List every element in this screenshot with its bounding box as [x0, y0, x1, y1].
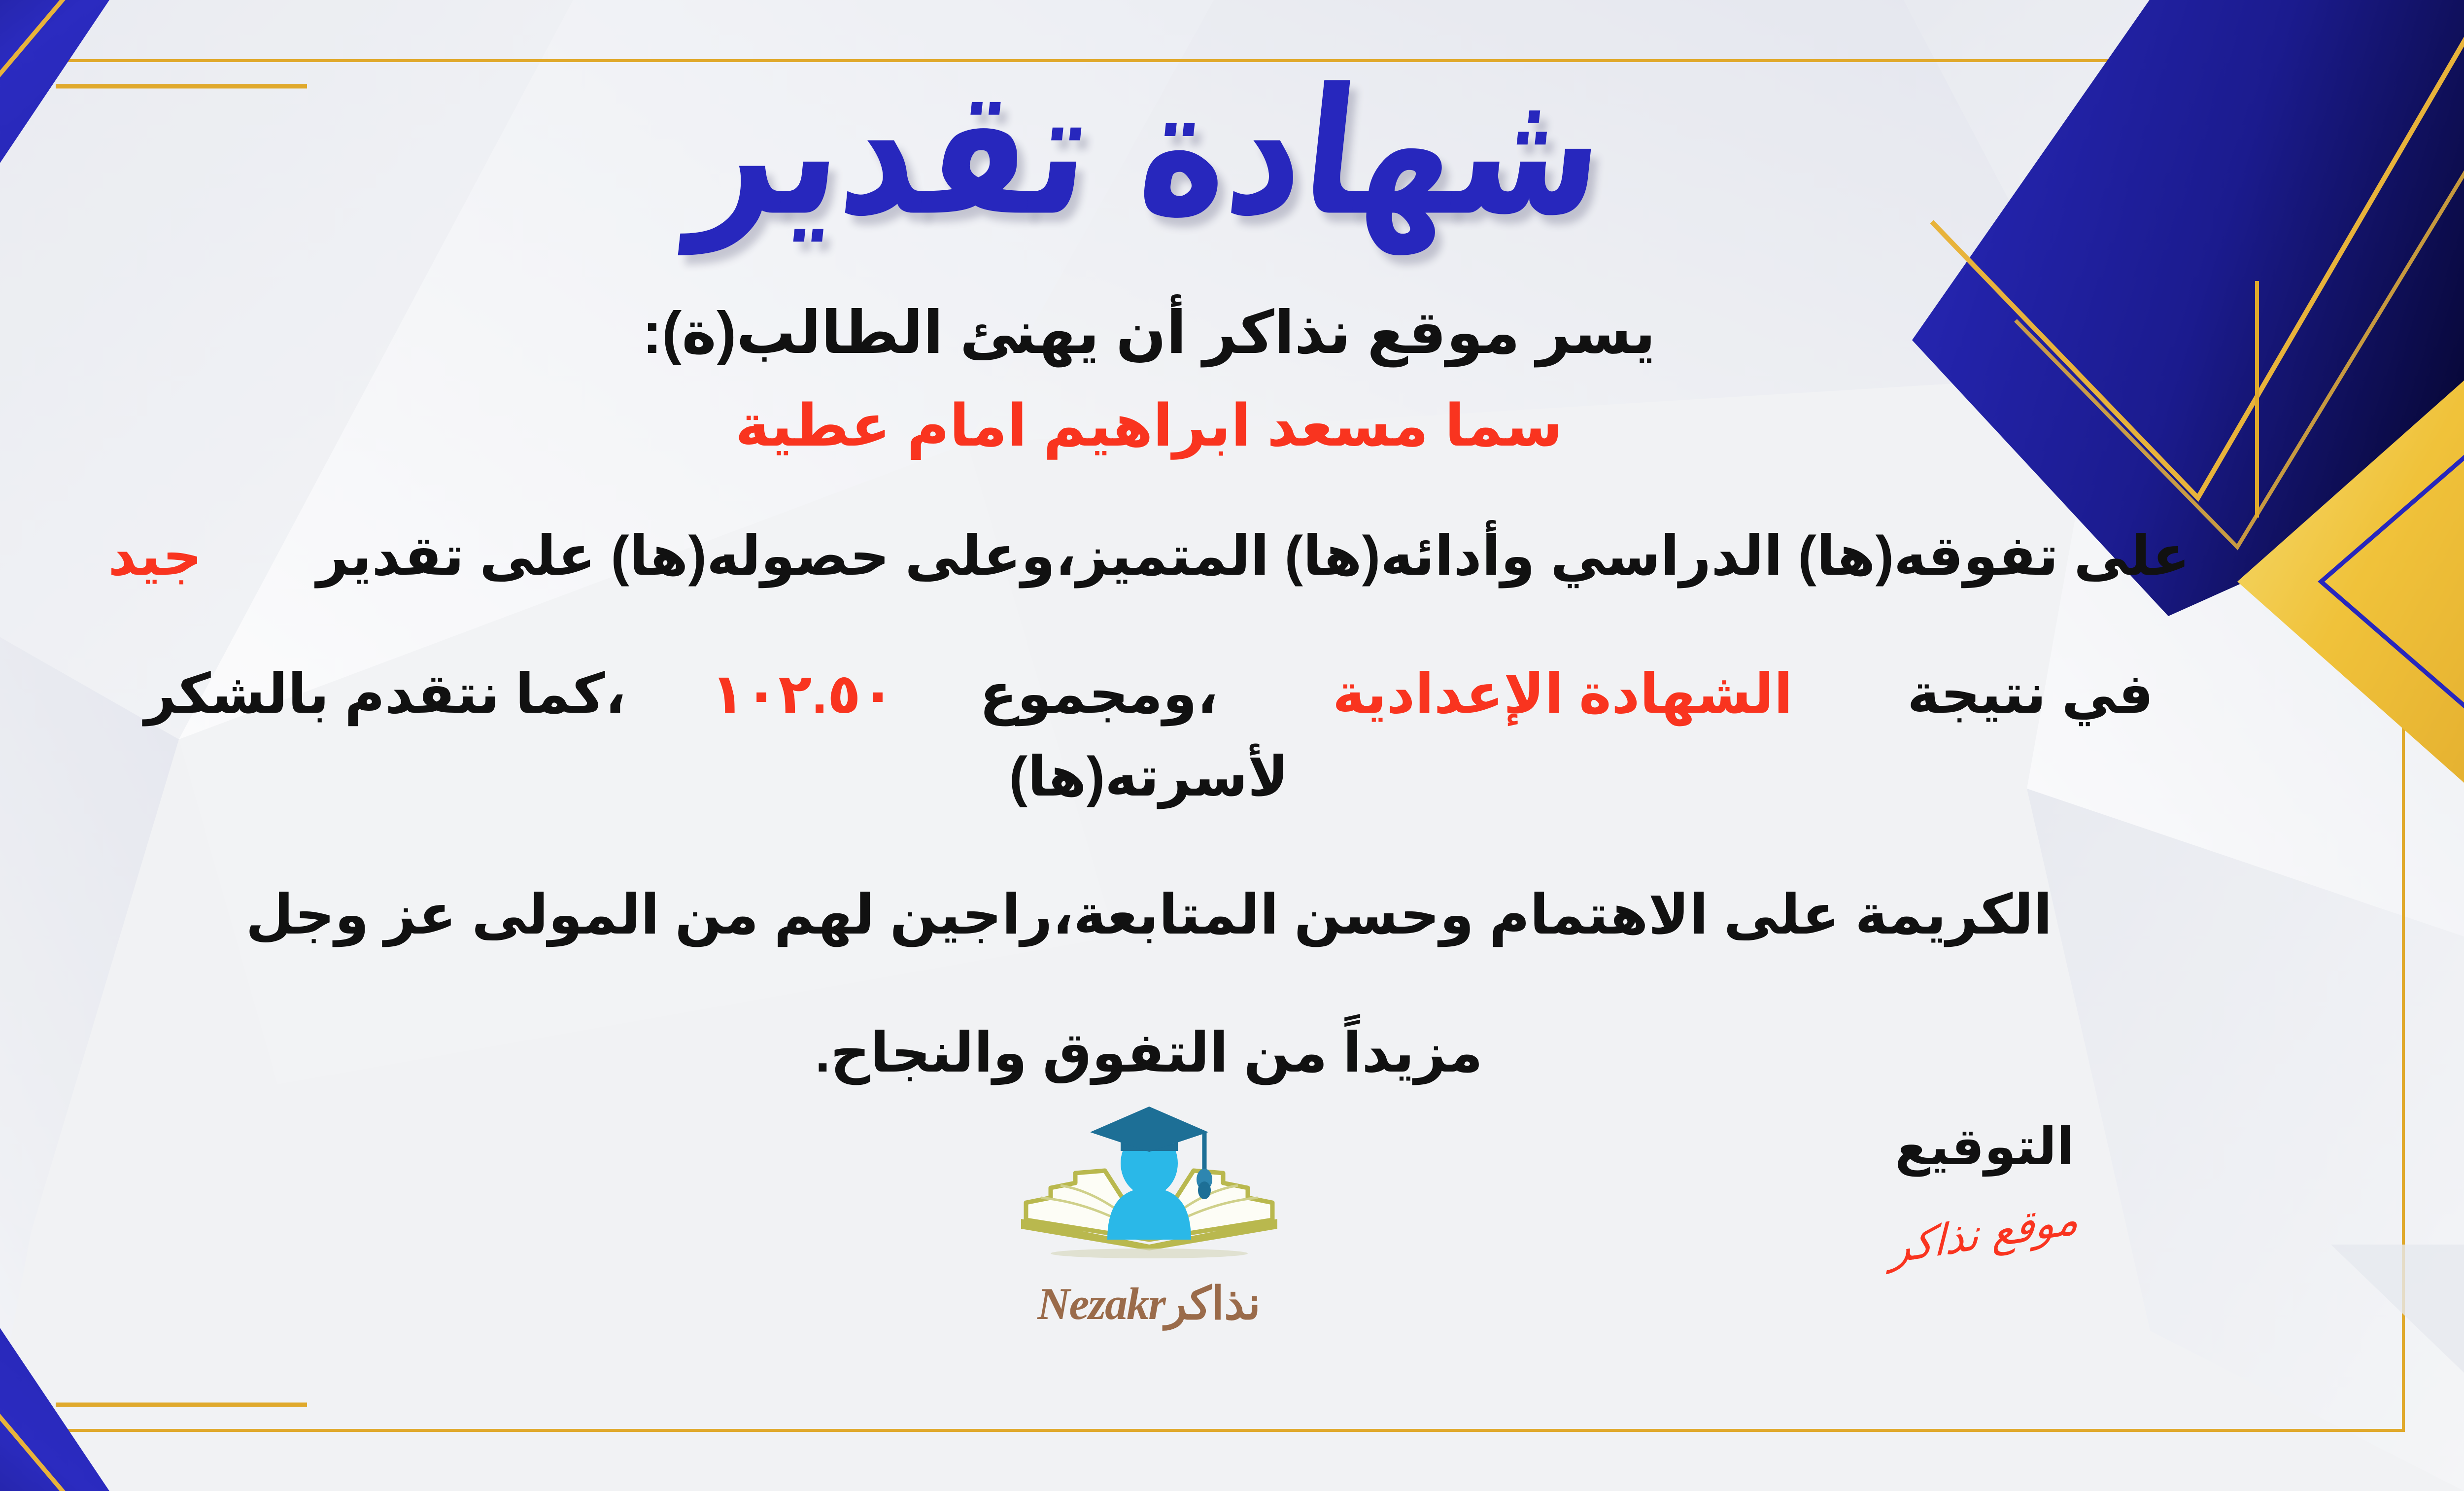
intro-line: يسر موقع نذاكر أن يهنئ الطالب(ة): [40, 291, 2258, 375]
graduate-book-icon [1011, 1097, 1287, 1284]
achievement-text: على تفوقه(ها) الدراسي وأدائه(ها) المتميز… [317, 525, 2190, 587]
total-label: ،ومجموع [980, 663, 1218, 725]
student-name: سما مسعد ابراهيم امام عطية [40, 391, 2258, 459]
signature-mark: موقع نذاكر [1890, 1194, 2079, 1274]
certificate-title-area: شهادة تقدير [0, 39, 2464, 266]
certificate-title: شهادة تقدير [686, 66, 1612, 240]
certificate-type-value: الشهادة الإعدادية [1333, 663, 1793, 725]
achievement-line: على تفوقه(ها) الدراسي وأدائه(ها) المتميز… [40, 515, 2258, 597]
logo-arabic: نذاكر [1165, 1279, 1261, 1329]
result-prefix: في نتيجة [1907, 663, 2154, 725]
total-score-value: ١٠٢.٥٠ [711, 663, 894, 725]
logo-latin: Nezakr [1037, 1279, 1165, 1329]
certificate-body: يسر موقع نذاكر أن يهنئ الطالب(ة): سما مس… [40, 291, 2258, 1149]
site-logo: نذاكرNezakr [962, 1097, 1336, 1330]
grade-value: جيد [108, 525, 202, 587]
signature-block: التوقيع موقع نذاكر [1889, 1116, 2080, 1258]
certificate-canvas: شهادة تقدير يسر موقع نذاكر أن يهنئ الطال… [0, 0, 2464, 1491]
closing-line: مزيداً من التفوق والنجاح. [40, 1011, 2258, 1094]
family-thanks-line: الكريمة على الاهتمام وحسن المتابعة،راجين… [40, 873, 2258, 956]
result-line: في نتيجة الشهادة الإعدادية ،ومجموع ١٠٢.٥… [40, 653, 2258, 818]
certificate-footer: التوقيع موقع نذاكر [0, 1116, 2464, 1402]
signature-label: التوقيع [1889, 1116, 2080, 1177]
logo-wordmark: نذاكرNezakr [962, 1277, 1336, 1330]
